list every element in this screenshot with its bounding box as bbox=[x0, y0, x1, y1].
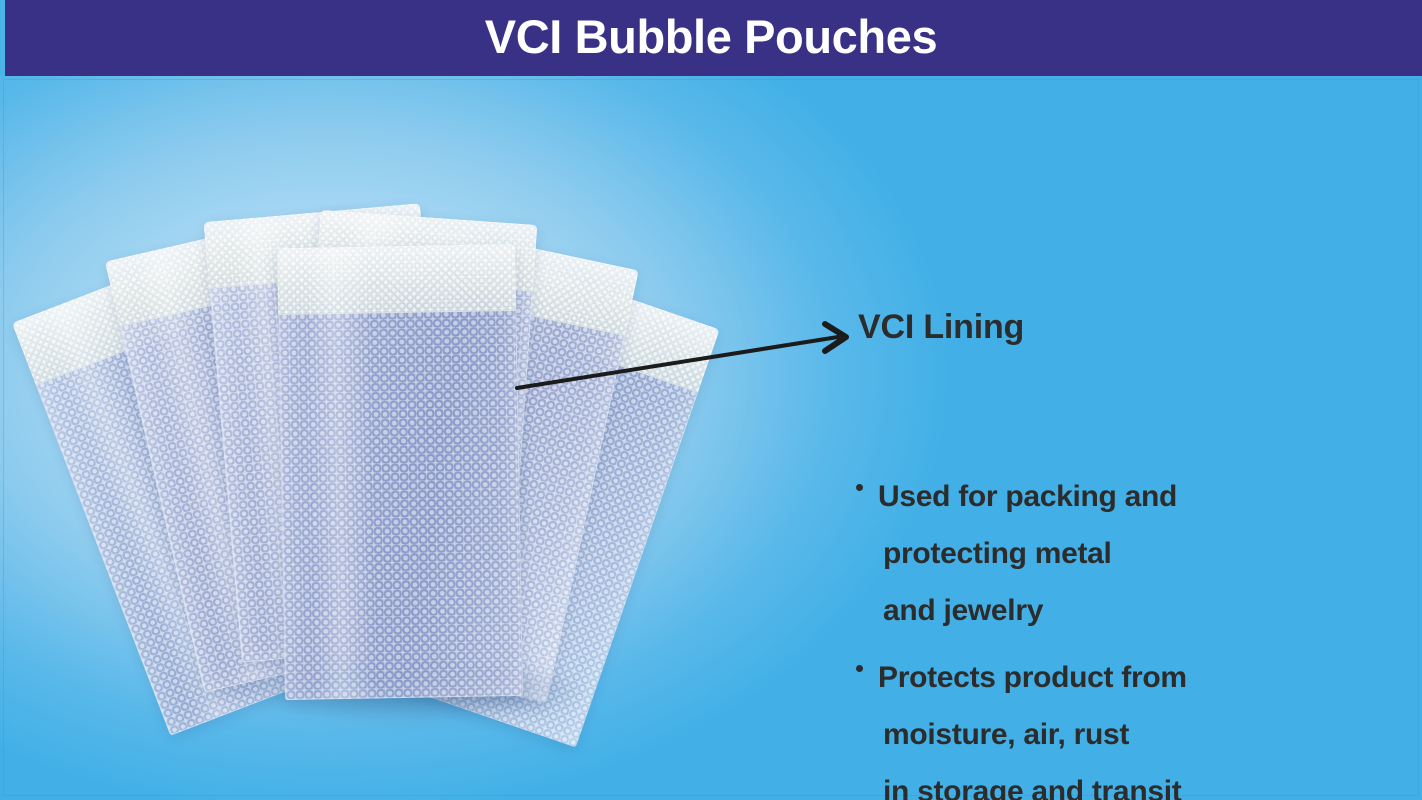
product-image-vci-bubble-pouches bbox=[90, 136, 710, 736]
slide-canvas: VCI Lining Used for packing and protecti… bbox=[0, 0, 1422, 800]
list-item-line: in storage and transit bbox=[878, 763, 1352, 800]
list-item-line: Protects product from bbox=[878, 649, 1352, 706]
callout-label-vci-lining: VCI Lining bbox=[858, 308, 1024, 347]
feature-bullet-list: Used for packing and protecting metal an… bbox=[852, 468, 1352, 800]
arrow-right-icon bbox=[480, 306, 880, 416]
list-item-text: Used for packing and protecting metal an… bbox=[852, 468, 1352, 639]
header-band: VCI Bubble Pouches bbox=[0, 0, 1422, 76]
list-item: Used for packing and protecting metal an… bbox=[852, 468, 1352, 639]
list-item-line: and jewelry bbox=[878, 582, 1352, 639]
page-title: VCI Bubble Pouches bbox=[0, 0, 1422, 76]
header-left-edge-sliver bbox=[0, 0, 5, 76]
bullet-dot-icon bbox=[856, 665, 863, 672]
slide-body: VCI Lining Used for packing and protecti… bbox=[0, 76, 1422, 800]
list-item: Protects product from moisture, air, rus… bbox=[852, 649, 1352, 800]
list-item-line: moisture, air, rust bbox=[878, 706, 1352, 763]
bullet-dot-icon bbox=[856, 484, 863, 491]
list-item-line: Used for packing and bbox=[878, 468, 1352, 525]
list-item-text: Protects product from moisture, air, rus… bbox=[852, 649, 1352, 800]
list-item-line: protecting metal bbox=[878, 525, 1352, 582]
